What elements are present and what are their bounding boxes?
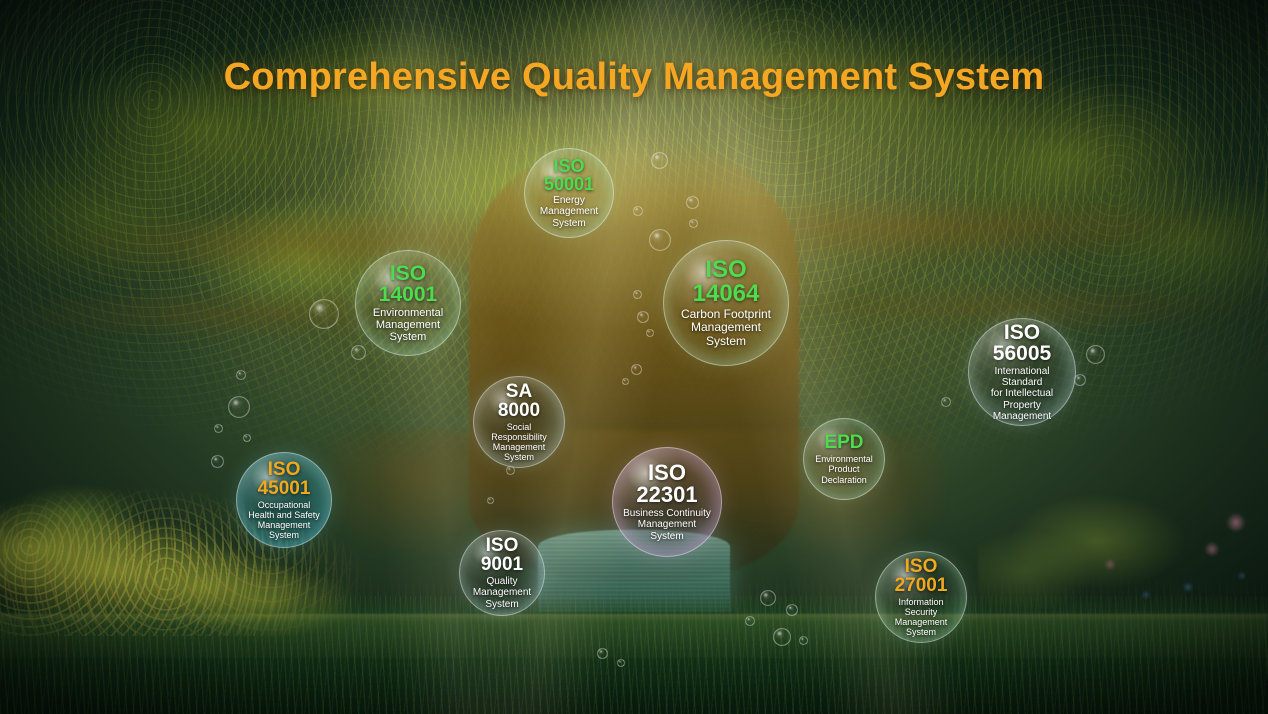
standard-description: Business Continuity Management System [617,508,717,542]
standard-description: International Standard for Intellectual … [968,366,1076,422]
standard-code: ISO 9001 [481,536,523,574]
left-flower-blooms [0,486,390,636]
decorative-bubble [631,364,642,375]
decorative-bubble [243,434,251,442]
decorative-bubble [941,397,951,407]
decorative-bubble [760,590,776,606]
slide-canvas: Comprehensive Quality Management System … [0,0,1268,714]
decorative-bubble [597,648,608,659]
standard-description: Social Responsibility Management System [473,422,565,462]
standard-bubble-iso-14001[interactable]: ISO 14001Environmental Management System [355,250,461,356]
standard-bubble-iso-56005[interactable]: ISO 56005International Standard for Inte… [968,318,1076,426]
decorative-bubble [211,455,224,468]
standard-description: Information Security Management System [875,597,967,637]
decorative-bubble [309,299,339,329]
standard-bubble-iso-27001[interactable]: ISO 27001Information Security Management… [875,551,967,643]
standard-bubble-iso-14064[interactable]: ISO 14064Carbon Footprint Management Sys… [663,240,789,366]
decorative-bubble [633,290,642,299]
standard-bubble-epd[interactable]: EPDEnvironmental Product Declaration [803,418,885,500]
standard-code: ISO 27001 [895,557,948,595]
standard-bubble-iso-9001[interactable]: ISO 9001Quality Management System [459,530,545,616]
standard-description: Environmental Product Declaration [809,454,879,484]
standard-bubble-iso-22301[interactable]: ISO 22301Business Continuity Management … [612,447,722,557]
standard-code: ISO 14001 [379,263,437,305]
decorative-bubble [649,229,671,251]
standard-description: Environmental Management System [367,307,449,344]
decorative-bubble [651,152,668,169]
decorative-bubble [637,311,649,323]
decorative-bubble [745,616,755,626]
decorative-bubble [228,396,250,418]
decorative-bubble [1086,345,1105,364]
decorative-bubble [622,378,629,385]
standard-bubble-iso-45001[interactable]: ISO 45001Occupational Health and Safety … [236,452,332,548]
decorative-bubble [646,329,654,337]
standard-description: Energy Management System [534,195,604,229]
standard-code: SA 8000 [498,382,540,420]
standard-code: ISO 50001 [544,157,594,193]
decorative-bubble [214,424,223,433]
page-title: Comprehensive Quality Management System [0,56,1268,99]
decorative-bubble [689,219,698,228]
decorative-bubble [487,497,494,504]
decorative-bubble [686,196,699,209]
standard-code: ISO 56005 [993,322,1051,364]
standard-description: Quality Management System [467,576,537,610]
standard-code: EPD [824,433,863,452]
standard-code: ISO 22301 [636,462,697,506]
decorative-bubble [633,206,643,216]
standard-bubble-iso-50001[interactable]: ISO 50001Energy Management System [524,148,614,238]
standard-code: ISO 45001 [258,460,311,498]
decorative-bubble [351,345,366,360]
standard-code: ISO 14064 [693,258,760,306]
decorative-bubble [773,628,791,646]
standard-description: Carbon Footprint Management System [675,308,777,348]
decorative-bubble [236,370,246,380]
standard-description: Occupational Health and Safety Managemen… [242,500,326,540]
right-wildflower-bank [978,458,1268,648]
decorative-bubble [617,659,625,667]
standard-bubble-sa-8000[interactable]: SA 8000Social Responsibility Management … [473,376,565,468]
decorative-bubble [799,636,808,645]
decorative-bubble [786,604,798,616]
